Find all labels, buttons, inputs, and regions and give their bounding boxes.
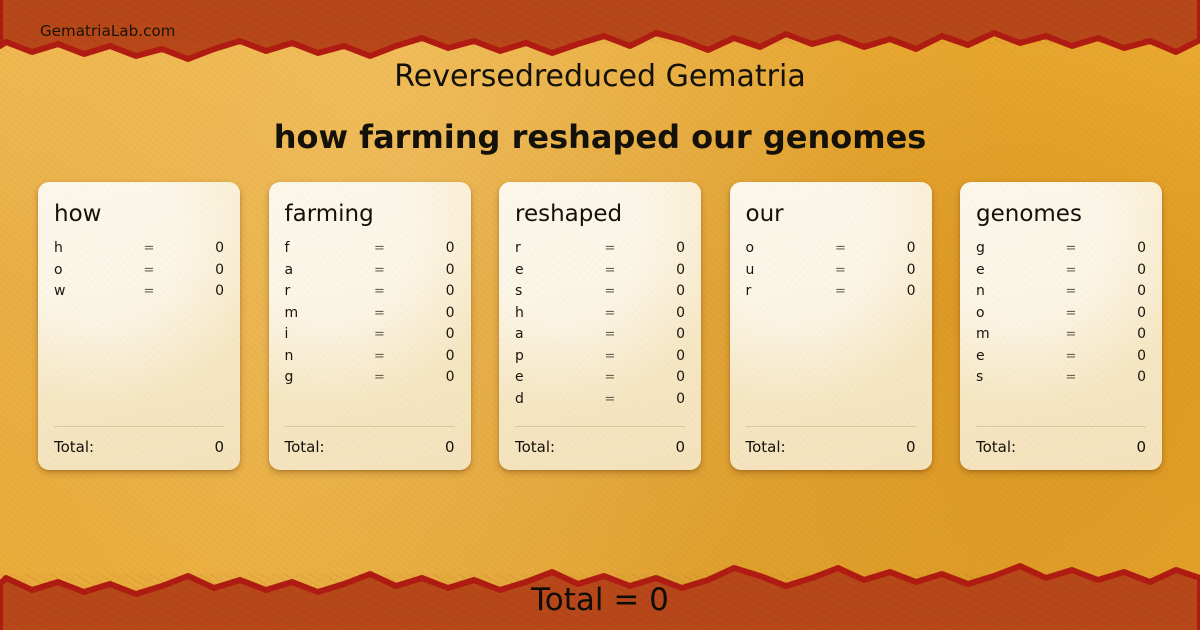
equals-sign: = xyxy=(1040,263,1102,278)
letter-value: 0 xyxy=(872,240,916,256)
equals-sign: = xyxy=(1040,349,1102,364)
letter-value: 0 xyxy=(641,391,685,407)
equals-sign: = xyxy=(579,263,641,278)
word-card: farmingf=0a=0r=0m=0i=0n=0g=0Total:0 xyxy=(269,182,471,470)
letter-row: r=0 xyxy=(746,283,916,305)
letter-char: r xyxy=(746,283,810,299)
letter-value: 0 xyxy=(411,305,455,321)
letter-row: n=0 xyxy=(285,348,455,370)
letter-row: e=0 xyxy=(515,369,685,391)
letter-value: 0 xyxy=(180,262,224,278)
letter-value: 0 xyxy=(641,262,685,278)
letter-char: r xyxy=(515,240,579,256)
equals-sign: = xyxy=(1040,370,1102,385)
letter-char: s xyxy=(515,283,579,299)
card-total-label: Total: xyxy=(746,438,786,456)
equals-sign: = xyxy=(810,263,872,278)
equals-sign: = xyxy=(1040,327,1102,342)
equals-sign: = xyxy=(579,370,641,385)
word-card-list: howh=0o=0w=0Total:0farmingf=0a=0r=0m=0i=… xyxy=(38,182,1162,470)
equals-sign: = xyxy=(579,241,641,256)
letter-row: n=0 xyxy=(976,283,1146,305)
equals-sign: = xyxy=(579,392,641,407)
letter-char: o xyxy=(976,305,1040,321)
card-word-title: how xyxy=(54,202,224,226)
letter-row: g=0 xyxy=(285,369,455,391)
letter-value: 0 xyxy=(641,283,685,299)
word-card: howh=0o=0w=0Total:0 xyxy=(38,182,240,470)
letter-row: o=0 xyxy=(54,262,224,284)
equals-sign: = xyxy=(1040,306,1102,321)
letter-row: r=0 xyxy=(515,240,685,262)
letter-row: s=0 xyxy=(515,283,685,305)
card-total-value: 0 xyxy=(675,438,685,456)
card-word-title: reshaped xyxy=(515,202,685,226)
letter-value: 0 xyxy=(411,348,455,364)
top-band-shape xyxy=(0,0,1200,59)
word-card: genomesg=0e=0n=0o=0m=0e=0s=0Total:0 xyxy=(960,182,1162,470)
word-card: ouro=0u=0r=0Total:0 xyxy=(730,182,932,470)
letter-char: e xyxy=(515,262,579,278)
letter-row: o=0 xyxy=(976,305,1146,327)
card-total-value: 0 xyxy=(906,438,916,456)
letter-row: w=0 xyxy=(54,283,224,305)
letter-char: g xyxy=(976,240,1040,256)
letter-char: e xyxy=(976,348,1040,364)
card-total-row: Total:0 xyxy=(285,427,455,456)
letter-value: 0 xyxy=(411,369,455,385)
letter-value: 0 xyxy=(180,283,224,299)
letter-row: i=0 xyxy=(285,326,455,348)
letter-value: 0 xyxy=(641,326,685,342)
letter-row: m=0 xyxy=(285,305,455,327)
letter-value: 0 xyxy=(1102,262,1146,278)
letter-char: d xyxy=(515,391,579,407)
letter-row: o=0 xyxy=(746,240,916,262)
equals-sign: = xyxy=(349,284,411,299)
equals-sign: = xyxy=(349,306,411,321)
card-total-row: Total:0 xyxy=(54,427,224,456)
word-card: reshapedr=0e=0s=0h=0a=0p=0e=0d=0Total:0 xyxy=(499,182,701,470)
letter-row: r=0 xyxy=(285,283,455,305)
letter-char: m xyxy=(285,305,349,321)
card-total-row: Total:0 xyxy=(746,427,916,456)
card-total-value: 0 xyxy=(445,438,455,456)
letter-row: e=0 xyxy=(976,262,1146,284)
card-total-label: Total: xyxy=(515,438,555,456)
letter-char: a xyxy=(285,262,349,278)
equals-sign: = xyxy=(810,241,872,256)
letter-char: s xyxy=(976,369,1040,385)
letter-char: f xyxy=(285,240,349,256)
letter-value: 0 xyxy=(872,262,916,278)
letter-char: h xyxy=(515,305,579,321)
equals-sign: = xyxy=(579,284,641,299)
letter-char: e xyxy=(976,262,1040,278)
letter-char: i xyxy=(285,326,349,342)
letter-value: 0 xyxy=(641,369,685,385)
letter-row: a=0 xyxy=(285,262,455,284)
letter-row: f=0 xyxy=(285,240,455,262)
equals-sign: = xyxy=(349,327,411,342)
letter-row: a=0 xyxy=(515,326,685,348)
letter-row: e=0 xyxy=(515,262,685,284)
letter-value-list: o=0u=0r=0 xyxy=(746,240,916,420)
letter-value: 0 xyxy=(1102,348,1146,364)
equals-sign: = xyxy=(349,349,411,364)
card-total-value: 0 xyxy=(214,438,224,456)
letter-value-list: f=0a=0r=0m=0i=0n=0g=0 xyxy=(285,240,455,420)
card-total-row: Total:0 xyxy=(515,427,685,456)
letter-row: g=0 xyxy=(976,240,1146,262)
letter-char: g xyxy=(285,369,349,385)
letter-row: s=0 xyxy=(976,369,1146,391)
grand-total: Total = 0 xyxy=(0,583,1200,617)
equals-sign: = xyxy=(810,284,872,299)
site-watermark: GematriaLab.com xyxy=(40,22,175,40)
equals-sign: = xyxy=(1040,241,1102,256)
letter-value-list: h=0o=0w=0 xyxy=(54,240,224,420)
letter-value: 0 xyxy=(411,262,455,278)
letter-value-list: r=0e=0s=0h=0a=0p=0e=0d=0 xyxy=(515,240,685,420)
letter-value: 0 xyxy=(1102,305,1146,321)
card-word-title: genomes xyxy=(976,202,1146,226)
card-word-title: farming xyxy=(285,202,455,226)
card-total-label: Total: xyxy=(976,438,1016,456)
letter-char: m xyxy=(976,326,1040,342)
equals-sign: = xyxy=(349,241,411,256)
letter-value: 0 xyxy=(411,240,455,256)
equals-sign: = xyxy=(579,327,641,342)
letter-row: p=0 xyxy=(515,348,685,370)
letter-value: 0 xyxy=(411,326,455,342)
letter-value: 0 xyxy=(641,348,685,364)
equals-sign: = xyxy=(579,349,641,364)
card-total-label: Total: xyxy=(285,438,325,456)
letter-row: h=0 xyxy=(54,240,224,262)
card-total-value: 0 xyxy=(1136,438,1146,456)
letter-char: r xyxy=(285,283,349,299)
equals-sign: = xyxy=(118,241,180,256)
letter-char: e xyxy=(515,369,579,385)
letter-char: o xyxy=(746,240,810,256)
letter-row: m=0 xyxy=(976,326,1146,348)
card-total-label: Total: xyxy=(54,438,94,456)
letter-row: d=0 xyxy=(515,391,685,413)
letter-value: 0 xyxy=(1102,369,1146,385)
letter-char: n xyxy=(285,348,349,364)
letter-char: u xyxy=(746,262,810,278)
equals-sign: = xyxy=(1040,284,1102,299)
letter-char: h xyxy=(54,240,118,256)
equals-sign: = xyxy=(118,284,180,299)
letter-row: e=0 xyxy=(976,348,1146,370)
equals-sign: = xyxy=(118,263,180,278)
letter-value: 0 xyxy=(1102,326,1146,342)
letter-value: 0 xyxy=(1102,240,1146,256)
letter-value: 0 xyxy=(411,283,455,299)
letter-row: h=0 xyxy=(515,305,685,327)
letter-value: 0 xyxy=(641,305,685,321)
letter-char: o xyxy=(54,262,118,278)
letter-value: 0 xyxy=(180,240,224,256)
equals-sign: = xyxy=(349,370,411,385)
letter-row: u=0 xyxy=(746,262,916,284)
letter-value: 0 xyxy=(641,240,685,256)
letter-char: a xyxy=(515,326,579,342)
card-word-title: our xyxy=(746,202,916,226)
card-total-row: Total:0 xyxy=(976,427,1146,456)
letter-char: n xyxy=(976,283,1040,299)
letter-char: p xyxy=(515,348,579,364)
letter-value: 0 xyxy=(1102,283,1146,299)
letter-value-list: g=0e=0n=0o=0m=0e=0s=0 xyxy=(976,240,1146,420)
poster: GematriaLab.com Reversedreduced Gematria… xyxy=(0,0,1200,630)
page-title: Reversedreduced Gematria xyxy=(0,60,1200,93)
letter-value: 0 xyxy=(872,283,916,299)
equals-sign: = xyxy=(349,263,411,278)
page-subtitle: how farming reshaped our genomes xyxy=(0,120,1200,155)
letter-char: w xyxy=(54,283,118,299)
equals-sign: = xyxy=(579,306,641,321)
